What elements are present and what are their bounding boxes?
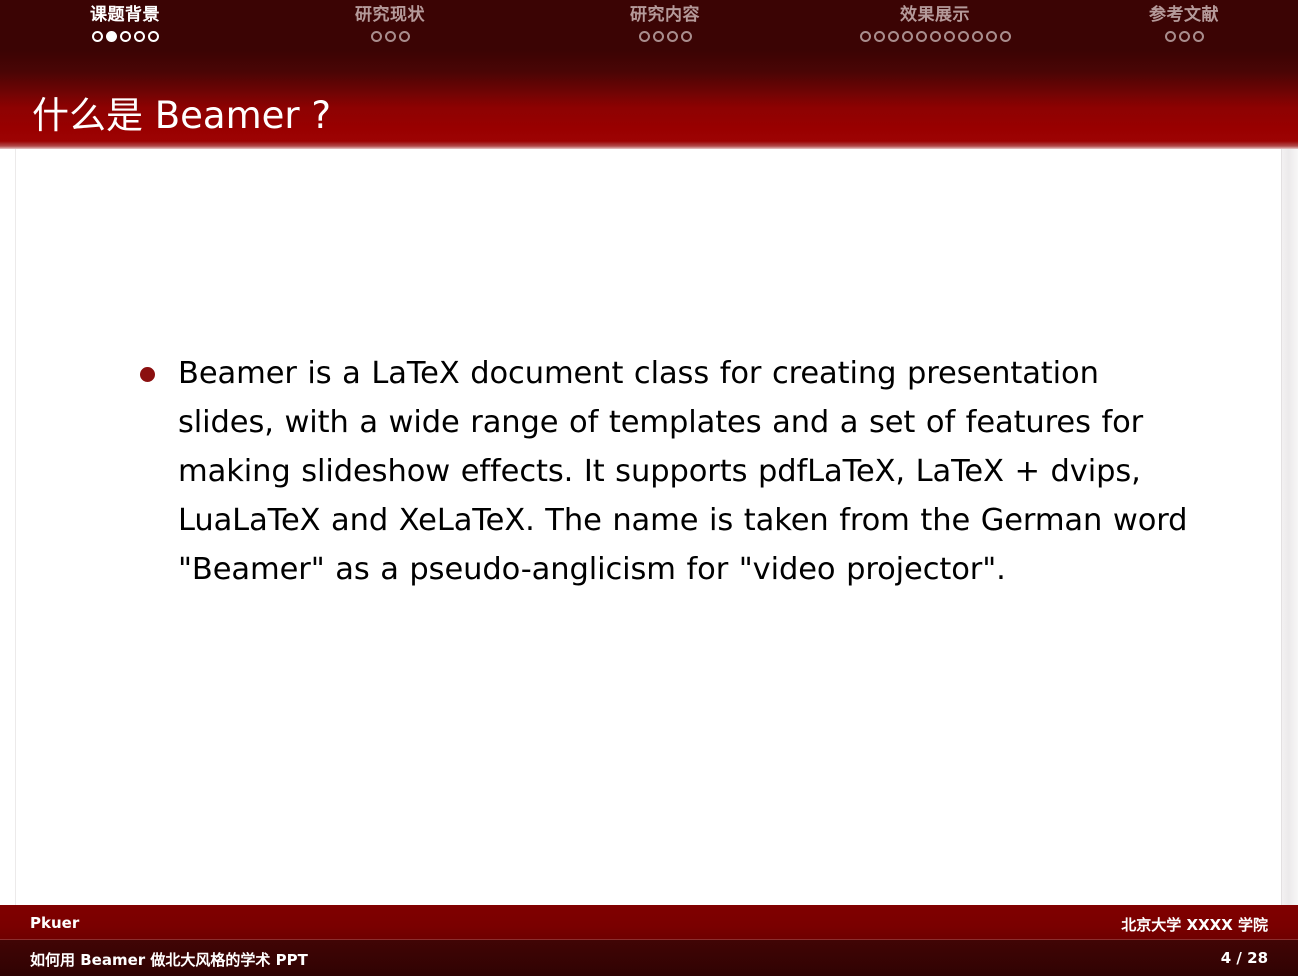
bullet-text: Beamer is a LaTeX document class for cre… xyxy=(178,349,1196,594)
nav-section-1[interactable]: 课题背景 xyxy=(0,0,250,50)
beamer-slide: 课题背景研究现状研究内容效果展示参考文献 什么是 Beamer ? Beamer… xyxy=(0,0,1298,976)
bullet-item: Beamer is a LaTeX document class for cre… xyxy=(136,349,1196,594)
nav-slide-dot[interactable] xyxy=(1165,31,1176,42)
nav-slide-dot[interactable] xyxy=(888,31,899,42)
nav-section-label: 效果展示 xyxy=(800,0,1070,28)
footer-talk-title: 如何用 Beamer 做北大风格的学术 PPT xyxy=(30,949,308,970)
nav-section-3[interactable]: 研究内容 xyxy=(530,0,800,50)
nav-slide-dot[interactable] xyxy=(385,31,396,42)
slide-title-bar: 什么是 Beamer ? xyxy=(0,50,1298,149)
nav-section-dots xyxy=(250,31,530,42)
nav-section-5[interactable]: 参考文献 xyxy=(1070,0,1298,50)
nav-slide-dot[interactable] xyxy=(681,31,692,42)
nav-section-4[interactable]: 效果展示 xyxy=(800,0,1070,50)
slide-footer: Pkuer 北京大学 XXXX 学院 如何用 Beamer 做北大风格的学术 P… xyxy=(0,905,1298,976)
body-right-edge-band xyxy=(1281,149,1298,905)
nav-section-dots xyxy=(1070,31,1298,42)
footer-page-number: 4 / 28 xyxy=(1221,949,1268,967)
nav-section-dots xyxy=(530,31,800,42)
nav-section-dots xyxy=(800,31,1070,42)
nav-slide-dot[interactable] xyxy=(930,31,941,42)
nav-slide-dot[interactable] xyxy=(874,31,885,42)
nav-slide-dot[interactable] xyxy=(1000,31,1011,42)
nav-slide-dot[interactable] xyxy=(958,31,969,42)
nav-section-label: 课题背景 xyxy=(0,0,250,28)
nav-slide-dot[interactable] xyxy=(399,31,410,42)
nav-section-2[interactable]: 研究现状 xyxy=(250,0,530,50)
footer-institute: 北京大学 XXXX 学院 xyxy=(1121,914,1268,935)
nav-slide-dot[interactable] xyxy=(120,31,131,42)
nav-slide-dot[interactable] xyxy=(860,31,871,42)
slide-body: Beamer is a LaTeX document class for cre… xyxy=(0,149,1298,905)
nav-slide-dot[interactable] xyxy=(1179,31,1190,42)
nav-slide-dot[interactable] xyxy=(902,31,913,42)
nav-section-dots xyxy=(0,31,250,42)
nav-slide-dot[interactable] xyxy=(667,31,678,42)
page-title: 什么是 Beamer ? xyxy=(32,94,331,138)
body-left-edge-line xyxy=(15,149,16,905)
nav-slide-dot[interactable] xyxy=(639,31,650,42)
nav-slide-dot[interactable] xyxy=(944,31,955,42)
nav-slide-dot[interactable] xyxy=(371,31,382,42)
nav-slide-dot[interactable] xyxy=(986,31,997,42)
nav-slide-dot[interactable] xyxy=(1193,31,1204,42)
content-list: Beamer is a LaTeX document class for cre… xyxy=(136,349,1196,594)
nav-slide-dot[interactable] xyxy=(653,31,664,42)
nav-section-label: 参考文献 xyxy=(1070,0,1298,28)
footer-upper-band xyxy=(0,905,1298,940)
body-right-edge-line xyxy=(1281,149,1282,905)
nav-slide-dot[interactable] xyxy=(972,31,983,42)
footer-author: Pkuer xyxy=(30,914,79,932)
nav-section-label: 研究内容 xyxy=(530,0,800,28)
nav-slide-dot-current[interactable] xyxy=(106,31,117,42)
nav-slide-dot[interactable] xyxy=(134,31,145,42)
navigation-bar: 课题背景研究现状研究内容效果展示参考文献 xyxy=(0,0,1298,50)
bullet-marker-icon xyxy=(140,367,155,382)
nav-section-label: 研究现状 xyxy=(250,0,530,28)
nav-slide-dot[interactable] xyxy=(916,31,927,42)
nav-slide-dot[interactable] xyxy=(148,31,159,42)
nav-slide-dot[interactable] xyxy=(92,31,103,42)
